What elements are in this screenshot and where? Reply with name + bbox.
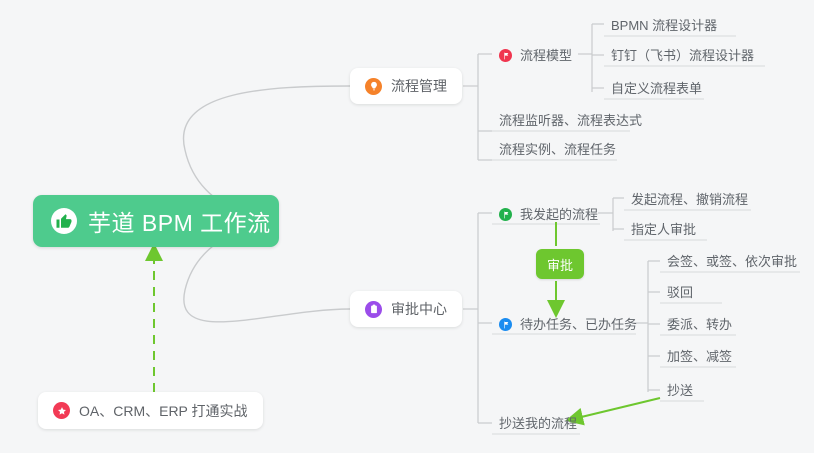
flag-icon [499,49,512,62]
thumbs-up-icon [51,208,77,234]
node-cc[interactable]: 抄送 [660,376,700,401]
node-process-model[interactable]: 流程模型 [492,41,579,66]
clipboard-icon [365,301,382,318]
node-add-remove-sign-label: 加签、减签 [667,350,732,363]
flag-icon [499,318,512,331]
node-assigned-approval[interactable]: 指定人审批 [624,215,703,240]
flag-icon [499,208,512,221]
node-bpmn-designer-label: BPMN 流程设计器 [611,19,717,32]
node-cc-to-me[interactable]: 抄送我的流程 [492,409,584,434]
node-custom-form[interactable]: 自定义流程表单 [604,74,709,99]
node-listener-expression[interactable]: 流程监听器、流程表达式 [492,106,649,131]
branch-approval-center-label: 审批中心 [391,299,447,319]
lightbulb-icon [365,78,382,95]
branch-process-management-label: 流程管理 [391,76,447,96]
node-todo-done-tasks-label: 待办任务、已办任务 [520,318,637,331]
node-add-remove-sign[interactable]: 加签、减签 [660,342,739,367]
node-cc-label: 抄送 [667,384,693,397]
root-label: 芋道 BPM 工作流 [88,204,271,238]
annotation-approve-label: 审批 [547,255,573,274]
node-delegate-transfer[interactable]: 委派、转办 [660,310,739,335]
mindmap-canvas: 芋道 BPM 工作流 流程管理 流程模型 BPMN 流程设计器 钉钉（飞书）流程… [0,0,814,453]
node-todo-done-tasks[interactable]: 待办任务、已办任务 [492,310,644,335]
node-dingtalk-designer-label: 钉钉（飞书）流程设计器 [611,49,754,62]
node-process-model-label: 流程模型 [520,49,572,62]
node-reject-label: 驳回 [667,286,693,299]
node-cc-to-me-label: 抄送我的流程 [499,417,577,430]
node-start-cancel[interactable]: 发起流程、撤销流程 [624,185,755,210]
node-custom-form-label: 自定义流程表单 [611,82,702,95]
node-start-cancel-label: 发起流程、撤销流程 [631,193,748,206]
arrow-cc-to-ccmine [573,398,660,419]
floating-node-integration-label: OA、CRM、ERP 打通实战 [79,401,248,421]
branch-approval-center[interactable]: 审批中心 [350,291,462,327]
node-countersign[interactable]: 会签、或签、依次审批 [660,247,804,272]
node-instance-task-label: 流程实例、流程任务 [499,143,616,156]
node-my-initiated-label: 我发起的流程 [520,208,598,221]
node-reject[interactable]: 驳回 [660,278,700,303]
node-delegate-transfer-label: 委派、转办 [667,318,732,331]
annotation-approve: 审批 [536,249,584,279]
node-dingtalk-designer[interactable]: 钉钉（飞书）流程设计器 [604,41,761,66]
root-node[interactable]: 芋道 BPM 工作流 [33,195,279,247]
node-assigned-approval-label: 指定人审批 [631,223,696,236]
branch-process-management[interactable]: 流程管理 [350,68,462,104]
node-instance-task[interactable]: 流程实例、流程任务 [492,135,623,160]
floating-node-integration[interactable]: OA、CRM、ERP 打通实战 [38,392,263,429]
node-bpmn-designer[interactable]: BPMN 流程设计器 [604,11,724,36]
star-icon [53,402,70,419]
node-countersign-label: 会签、或签、依次审批 [667,255,797,268]
node-my-initiated[interactable]: 我发起的流程 [492,200,605,225]
node-listener-expression-label: 流程监听器、流程表达式 [499,114,642,127]
